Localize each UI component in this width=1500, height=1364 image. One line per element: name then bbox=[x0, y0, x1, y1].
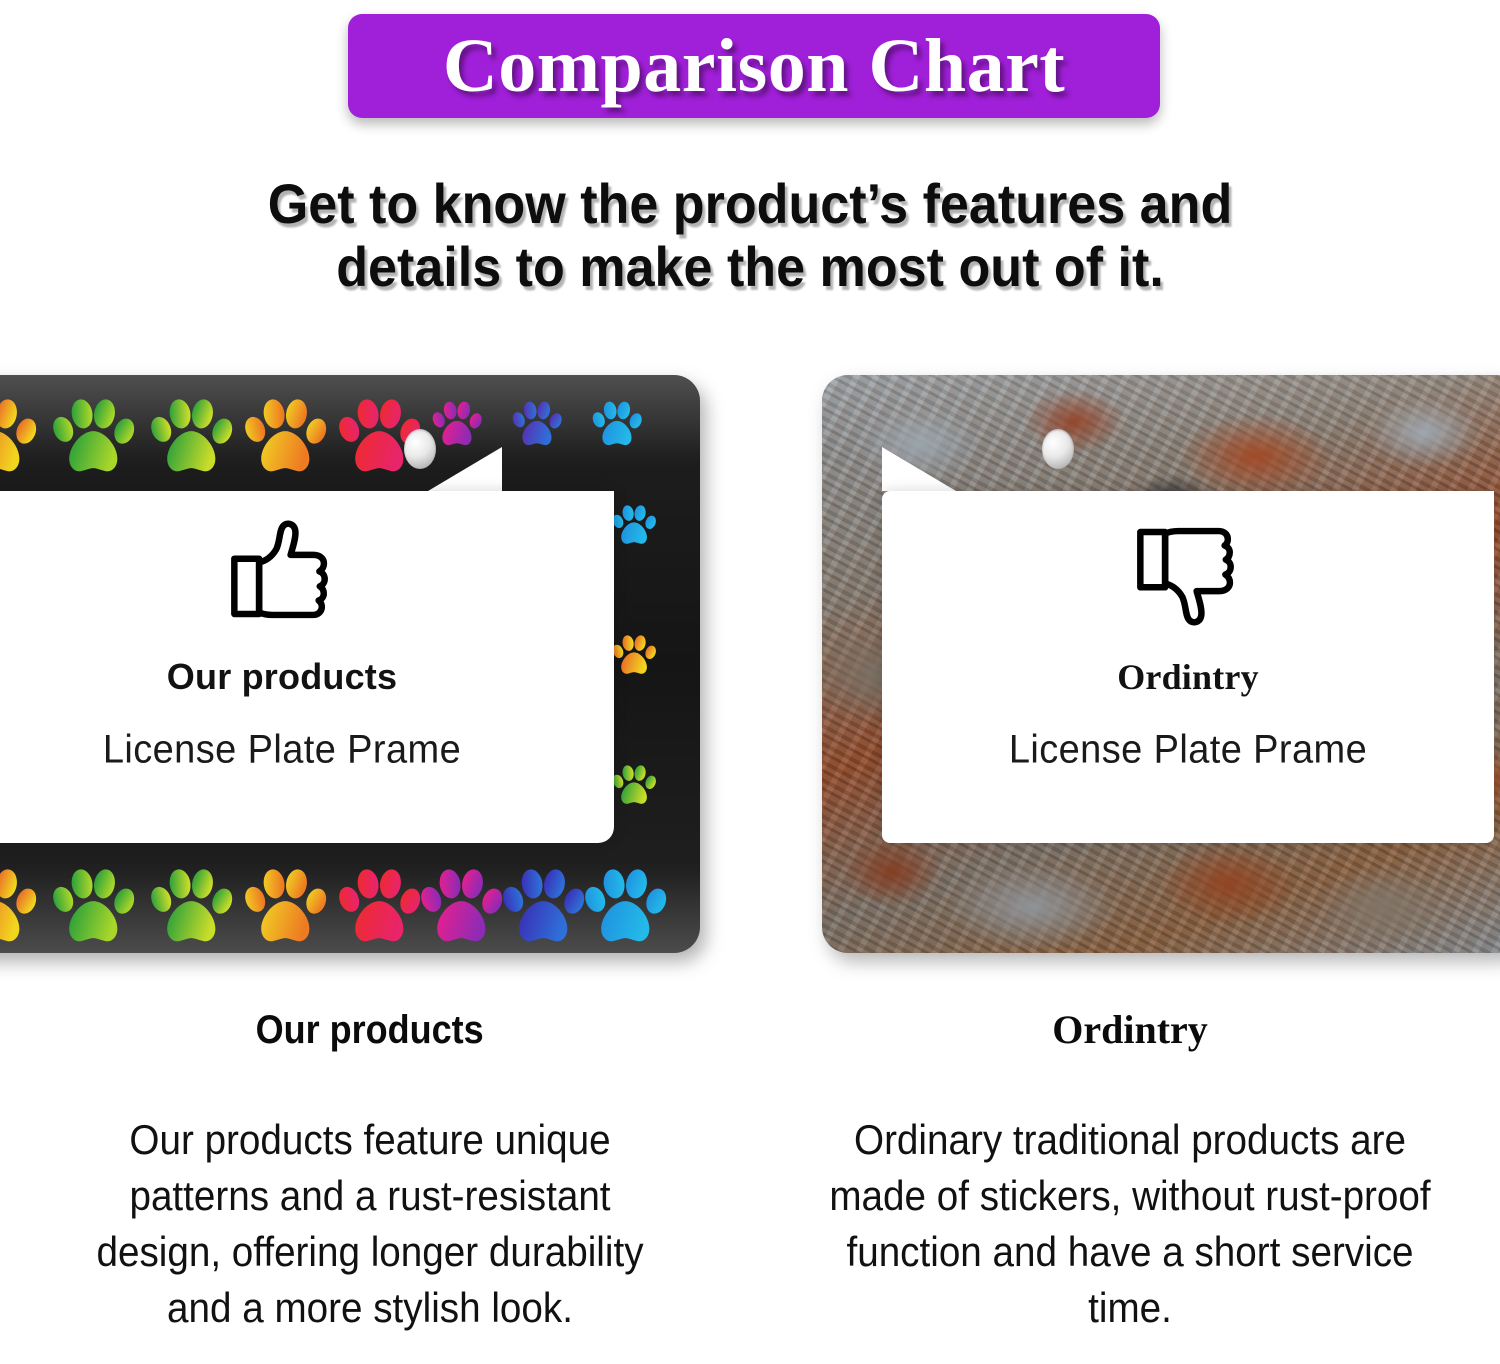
ordinary-window-title: Ordintry bbox=[1117, 659, 1259, 695]
page-title: Comparison Chart bbox=[443, 28, 1065, 104]
paw-print bbox=[244, 395, 330, 486]
paw-print bbox=[612, 763, 658, 814]
paw-print-icon bbox=[150, 395, 236, 481]
title-banner: Comparison Chart bbox=[348, 14, 1160, 118]
paw-print bbox=[0, 865, 40, 953]
paw-print-icon bbox=[592, 399, 644, 451]
paw-print bbox=[150, 395, 236, 486]
paw-print-icon bbox=[52, 395, 138, 481]
frame-notch bbox=[882, 447, 956, 491]
our-product-frame: Our products License Plate Prame bbox=[0, 375, 700, 953]
paw-print-icon bbox=[0, 865, 40, 951]
our-column-body: Our products feature unique patterns and… bbox=[30, 1112, 711, 1335]
ordinary-product-column: Ordintry Ordinary traditional products a… bbox=[760, 1010, 1500, 1335]
our-product-column: Our products Our products feature unique… bbox=[0, 1010, 740, 1335]
paw-print bbox=[0, 395, 40, 486]
paw-print-icon bbox=[244, 395, 330, 481]
subtitle: Get to know the product’s features and d… bbox=[53, 172, 1448, 299]
paw-print-icon bbox=[150, 865, 236, 951]
ordinary-column-body: Ordinary traditional products are made o… bbox=[790, 1112, 1471, 1335]
paw-print bbox=[420, 865, 506, 953]
paw-print-icon bbox=[0, 395, 40, 481]
ordinary-column-heading: Ordintry bbox=[760, 1010, 1500, 1050]
paw-print bbox=[338, 865, 424, 953]
paw-print bbox=[512, 399, 564, 456]
paw-print bbox=[502, 865, 588, 953]
paw-print bbox=[592, 399, 644, 456]
ordinary-product-frame: Ordintry License Plate Prame bbox=[822, 375, 1500, 953]
mounting-hole bbox=[1042, 429, 1074, 469]
paw-print-icon bbox=[338, 865, 424, 951]
frame-notch bbox=[428, 447, 502, 491]
our-window-subtitle: License Plate Prame bbox=[103, 730, 461, 770]
ordinary-window-subtitle: License Plate Prame bbox=[1009, 730, 1367, 770]
paw-print-icon bbox=[420, 865, 506, 951]
our-window-title: Our products bbox=[167, 659, 397, 695]
subtitle-line-1: Get to know the product’s features and bbox=[53, 172, 1448, 235]
paw-print-icon bbox=[432, 399, 484, 451]
product-frames-row: Our products License Plate Prame bbox=[0, 355, 1500, 975]
subtitle-line-2: details to make the most out of it. bbox=[53, 235, 1448, 298]
paw-print bbox=[150, 865, 236, 953]
paw-print-icon bbox=[612, 763, 658, 809]
mounting-hole bbox=[404, 429, 436, 469]
paw-print bbox=[612, 633, 658, 684]
thumbs-down-icon bbox=[1127, 513, 1249, 633]
comparison-chart-page: Comparison Chart Get to know the product… bbox=[0, 0, 1500, 1364]
ordinary-plate-window: Ordintry License Plate Prame bbox=[882, 491, 1494, 843]
paw-print-icon bbox=[502, 865, 588, 951]
paw-print-icon bbox=[612, 503, 658, 549]
paw-print bbox=[244, 865, 330, 953]
paw-print-icon bbox=[244, 865, 330, 951]
paw-print bbox=[52, 865, 138, 953]
our-plate-window: Our products License Plate Prame bbox=[0, 491, 614, 843]
paw-print-icon bbox=[512, 399, 564, 451]
paw-print-icon bbox=[52, 865, 138, 951]
paw-print bbox=[52, 395, 138, 486]
paw-print-icon bbox=[612, 633, 658, 679]
paw-print-icon bbox=[584, 865, 670, 951]
thumbs-up-icon bbox=[221, 513, 343, 633]
our-column-heading: Our products bbox=[256, 1010, 484, 1050]
paw-print bbox=[612, 503, 658, 554]
paw-print bbox=[584, 865, 670, 953]
